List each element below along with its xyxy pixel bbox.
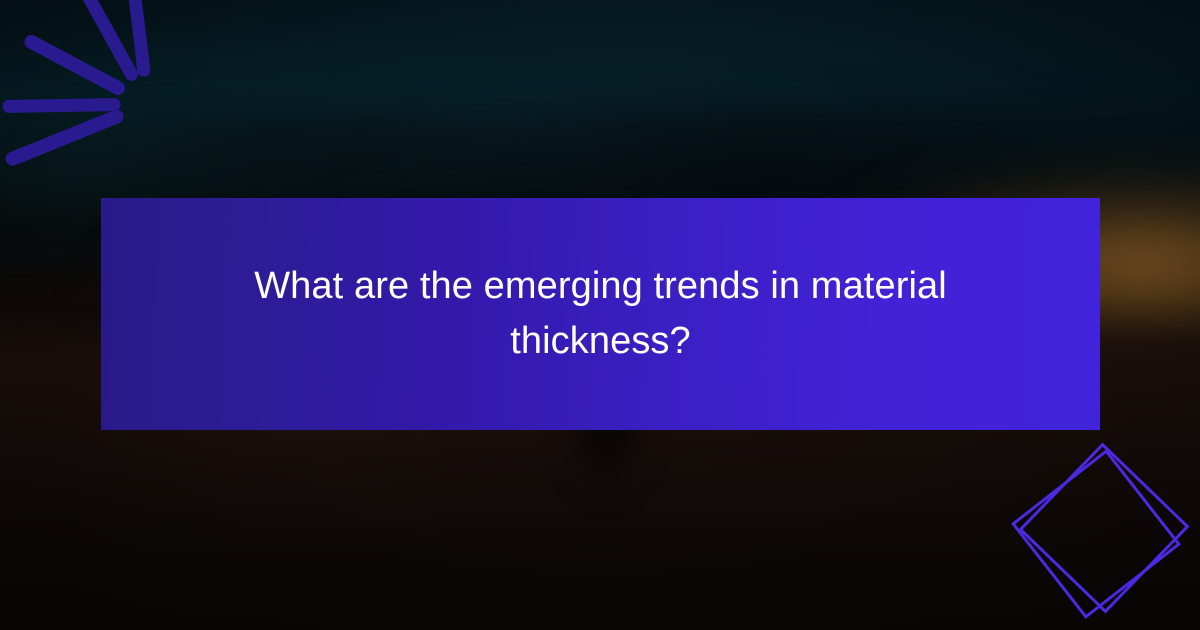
rotated-squares-icon bbox=[970, 400, 1200, 630]
burst-ray-2 bbox=[85, 0, 132, 74]
question-banner: What are the emerging trends in material… bbox=[101, 198, 1100, 430]
question-text: What are the emerging trends in material… bbox=[236, 259, 966, 369]
sparkle-burst-icon bbox=[0, 0, 210, 180]
burst-ray-5 bbox=[13, 117, 117, 159]
burst-ray-4 bbox=[9, 105, 114, 107]
square-outline-2 bbox=[1013, 451, 1179, 617]
square-outline-1 bbox=[1021, 445, 1188, 612]
burst-ray-3 bbox=[32, 42, 119, 88]
question-card-canvas: What are the emerging trends in material… bbox=[0, 0, 1200, 630]
burst-ray-1 bbox=[131, 0, 144, 70]
